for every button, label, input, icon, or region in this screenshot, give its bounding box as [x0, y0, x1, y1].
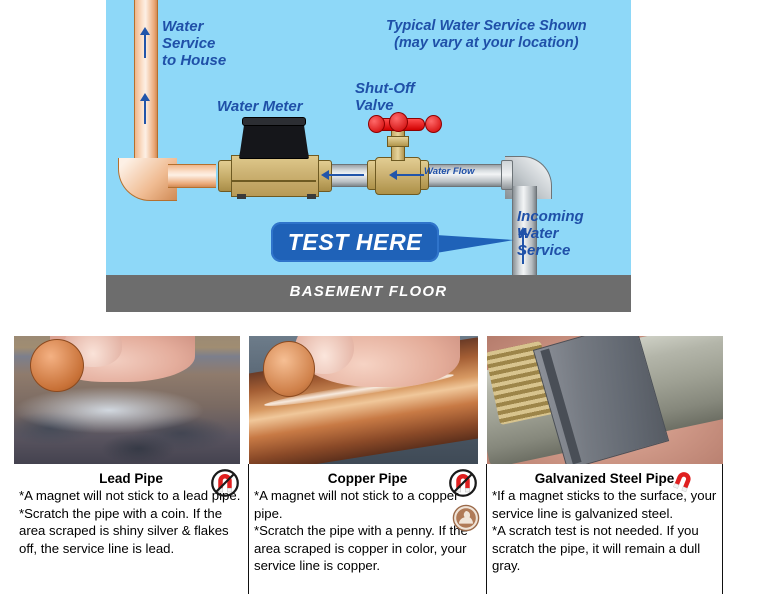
test-here-badge: TEST HERE	[271, 222, 439, 262]
copper-service-pipe-horizontal	[168, 164, 216, 188]
label-typical-service-note: Typical Water Service Shown (may vary at…	[386, 18, 587, 51]
panel-lead-pipe-text: Lead Pipe *A magnet will not stick to a …	[14, 464, 249, 594]
valve-handle-knob	[368, 115, 385, 133]
valve-handle-center	[389, 112, 408, 132]
water-meter-foot	[237, 194, 246, 199]
magnet-no-icon	[448, 468, 478, 498]
copper-service-pipe-vertical	[134, 0, 158, 164]
panel-line: *A magnet will not stick to a copper pip…	[254, 487, 481, 522]
arrow-left-icon	[328, 174, 364, 176]
panel-title: Copper Pipe	[254, 471, 481, 486]
arrow-up-icon	[144, 34, 146, 58]
test-here-label: TEST HERE	[288, 229, 422, 256]
arrow-up-icon	[144, 100, 146, 124]
test-here-pointer	[436, 235, 514, 253]
magnet-no-icon	[210, 468, 240, 498]
panel-body: *If a magnet sticks to the surface, your…	[492, 487, 717, 575]
water-meter-register	[239, 121, 309, 159]
photo-copper-pipe	[249, 336, 478, 464]
label-shut-off-valve: Shut-Off Valve	[355, 80, 415, 114]
penny-icon	[452, 504, 480, 532]
photo-lead-pipe	[14, 336, 240, 464]
water-service-diagram: Water Service to House Typical Water Ser…	[106, 0, 631, 312]
label-water-meter: Water Meter	[217, 98, 303, 115]
label-water-service-to-house: Water Service to House	[162, 18, 226, 69]
pipe-identification-table: Lead Pipe *A magnet will not stick to a …	[14, 336, 723, 594]
typical-note-line-1: Typical Water Service Shown	[386, 18, 587, 35]
label-water-flow: Water Flow	[424, 167, 475, 178]
basement-floor-band: BASEMENT FLOOR	[106, 275, 631, 312]
basement-floor-label: BASEMENT FLOOR	[106, 283, 631, 300]
magnet-icon	[668, 466, 698, 496]
valve-handle-knob	[425, 115, 442, 133]
water-meter-cap	[242, 117, 306, 126]
typical-note-line-2: (may vary at your location)	[386, 35, 587, 52]
pipe-union-icon	[501, 160, 513, 190]
panel-body: *A magnet will not stick to a copper pip…	[254, 487, 481, 575]
photo-galvanized-pipe	[487, 336, 723, 464]
panel-line: *Scratch the pipe with a coin. If the ar…	[19, 505, 243, 558]
water-meter-foot	[307, 194, 316, 199]
penny-coin	[263, 341, 315, 397]
arrow-left-icon	[396, 174, 424, 176]
penny-coin	[30, 339, 84, 392]
label-incoming-water-service: Incoming Water Service	[517, 208, 584, 259]
panel-galvanized-pipe-text: Galvanized Steel Pipe *If a magnet stick…	[487, 464, 723, 594]
panel-line: *A scratch test is not needed. If you sc…	[492, 522, 717, 575]
panel-copper-pipe-text: Copper Pipe *A magnet will not stick to …	[249, 464, 487, 594]
valve-packing-nut	[387, 136, 409, 147]
panel-line: *Scratch the pipe with a penny. If the a…	[254, 522, 481, 575]
water-meter-band	[232, 180, 316, 182]
water-meter-body	[231, 155, 319, 197]
shut-off-valve-body	[375, 157, 421, 195]
